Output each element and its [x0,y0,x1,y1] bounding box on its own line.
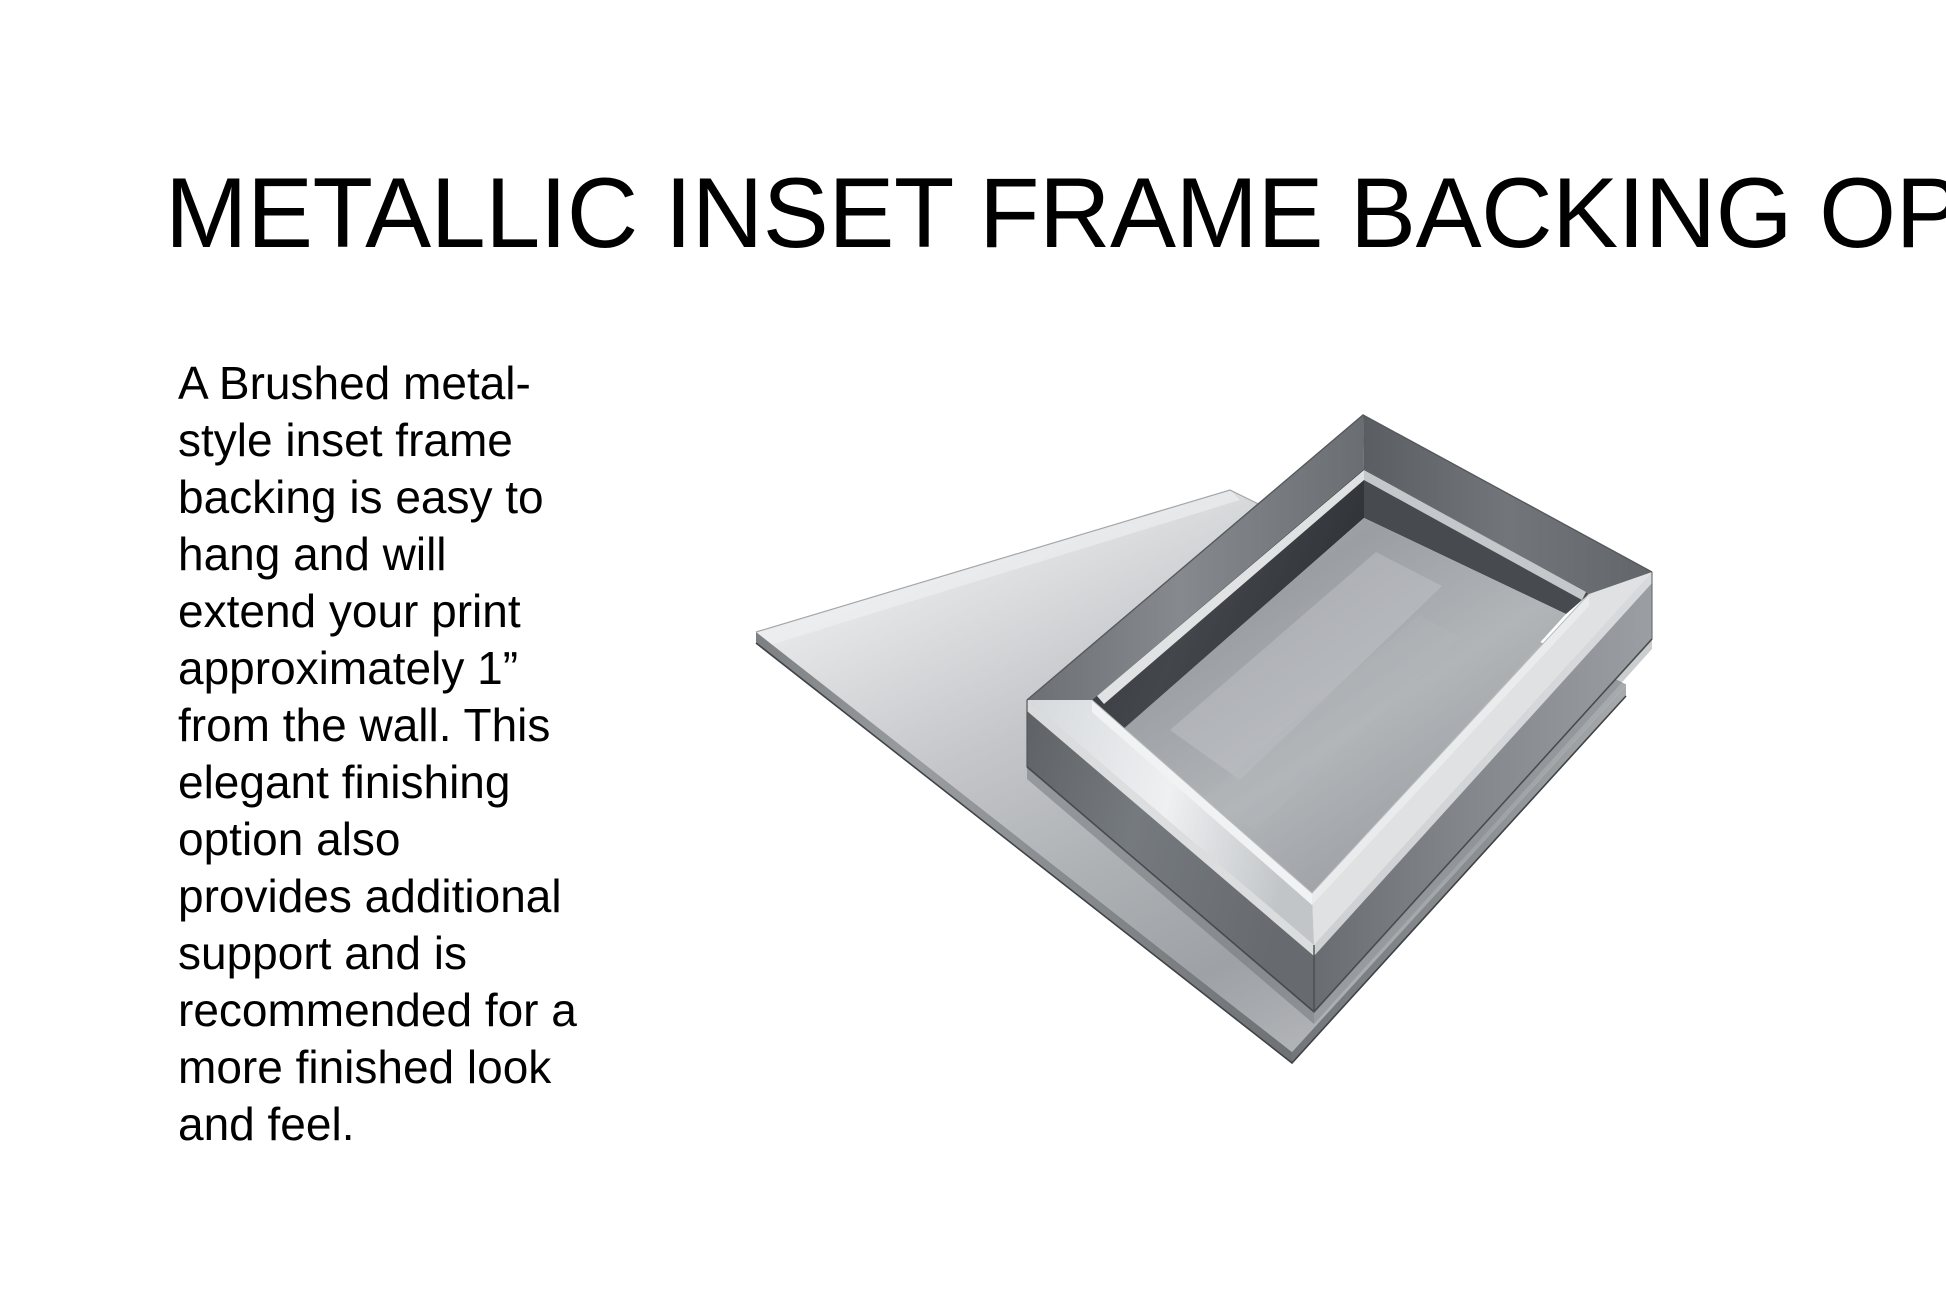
metallic-inset-frame-illustration [700,400,1680,1100]
page-title: METALLIC INSET FRAME BACKING OPTION [165,162,1805,265]
slide-canvas: METALLIC INSET FRAME BACKING OPTION A Br… [0,0,1946,1297]
product-image [700,400,1680,1100]
description-paragraph: A Brushed metal-style inset frame backin… [178,355,578,1153]
description-text-block: A Brushed metal-style inset frame backin… [178,355,578,1153]
